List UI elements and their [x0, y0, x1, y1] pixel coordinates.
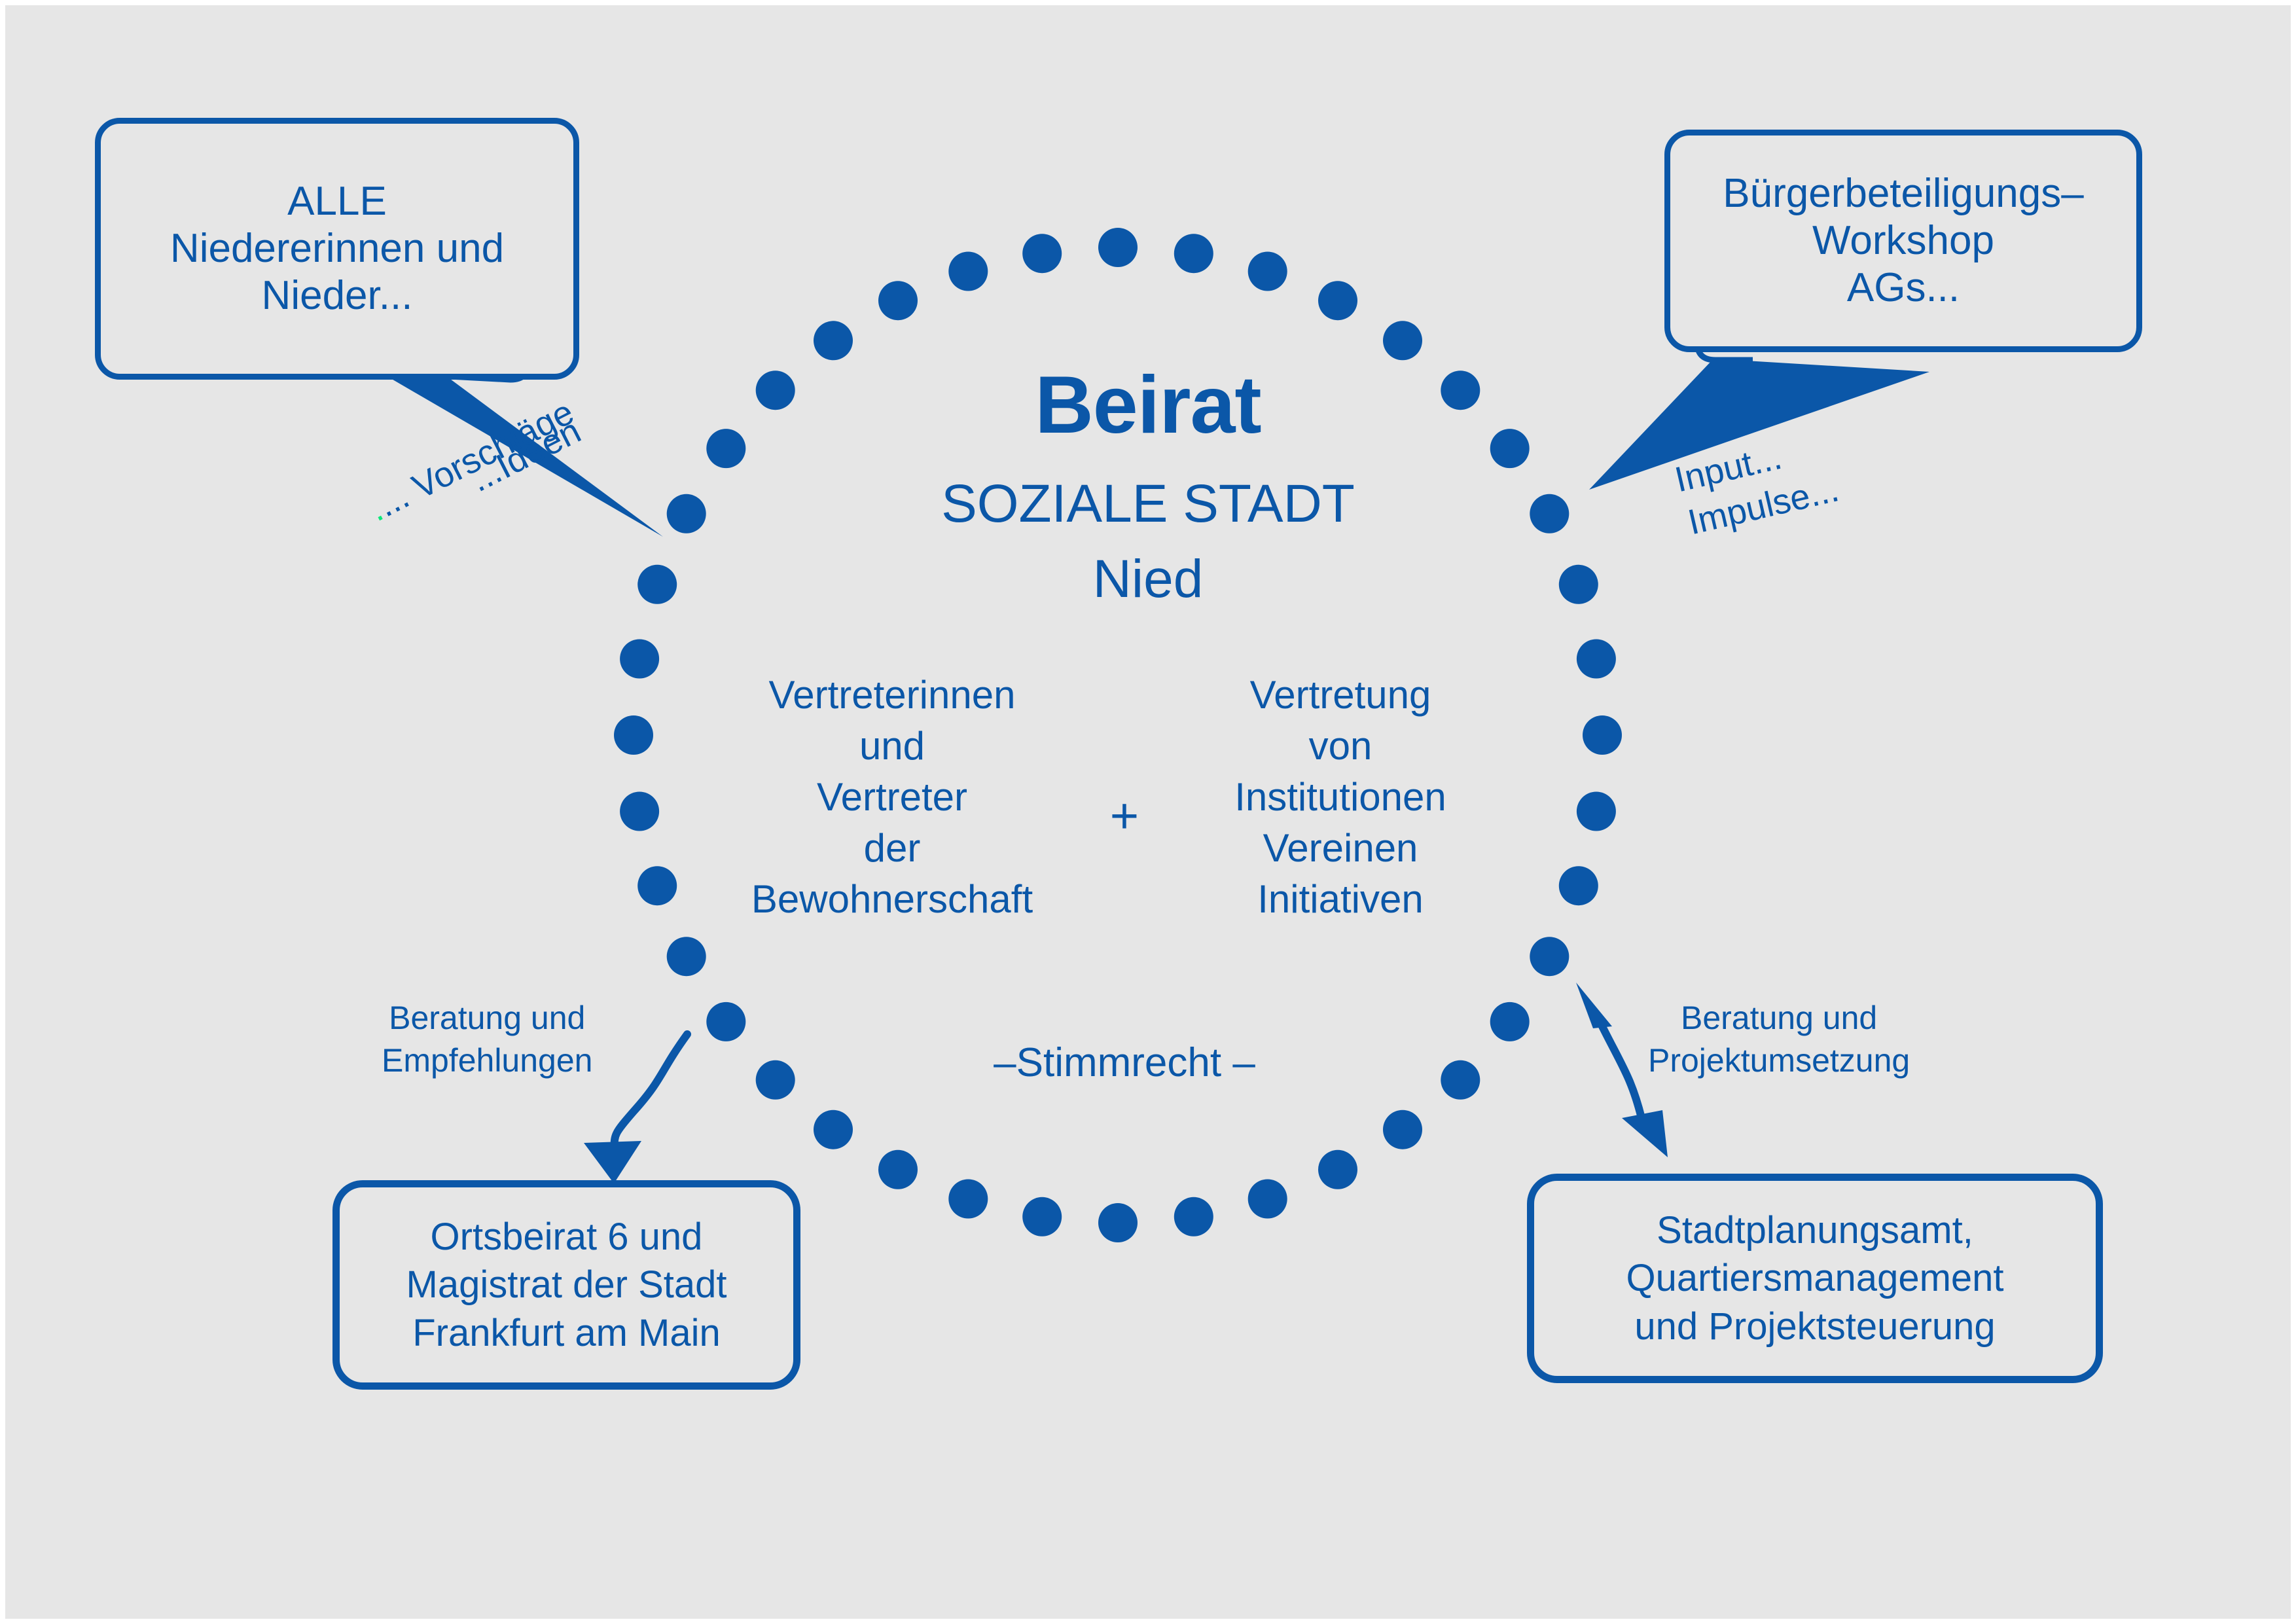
box-stadtplanung-line-3: und Projektsteuerung: [1634, 1303, 1995, 1350]
right-col-line-3: Institutionen: [1177, 772, 1504, 823]
box-ortsbeirat-line-3: Frankfurt am Main: [412, 1309, 721, 1357]
anno-beratung-l-line-1: Beratung und: [382, 997, 592, 1039]
arrow-beratung-projektumsetzung: [1602, 1026, 1641, 1118]
bubble-alle-line-1: ALLE: [287, 178, 387, 225]
right-col-line-4: Vereinen: [1177, 823, 1504, 874]
left-col-line-5: Bewohnerschaft: [709, 874, 1075, 925]
left-col-line-2: und: [709, 721, 1075, 772]
left-col-line-4: der: [709, 823, 1075, 874]
arrow-head-right-up: [1576, 983, 1612, 1028]
ring-dot: [1383, 1110, 1422, 1149]
stimmrecht-label: –Stimmrecht –: [922, 1039, 1327, 1086]
ring-dot: [756, 1060, 795, 1100]
arrow-head-left: [584, 1141, 641, 1183]
ring-dot: [1559, 866, 1598, 905]
center-subtitle-line1: SOZIALE STADT: [5, 473, 2291, 535]
diagram-canvas: ALLE Niedererinnen und Nieder... Bürgerb…: [0, 0, 2296, 1624]
center-right-column: Vertretung von Institutionen Vereinen In…: [1177, 670, 1504, 925]
annotation-beratung-projektumsetzung: Beratung und Projektumsetzung: [1648, 997, 1910, 1082]
ring-dot: [1577, 640, 1616, 679]
bubble-buerger-line-2: Workshop: [1812, 217, 1994, 264]
ring-dot: [1530, 937, 1569, 976]
ring-dot: [1490, 1002, 1530, 1041]
ring-dot: [1383, 321, 1422, 360]
ring-dot: [1174, 234, 1213, 273]
ring-dot: [878, 281, 918, 320]
ring-dot: [1441, 1060, 1480, 1100]
bubble-alle-line-3: Nieder...: [262, 272, 413, 319]
ring-dot: [1583, 715, 1622, 755]
arrow-beratung-empfehlungen: [614, 1034, 687, 1157]
ring-dot: [667, 937, 706, 976]
plus-sign: +: [1088, 787, 1160, 844]
box-ortsbeirat-line-2: Magistrat der Stadt: [406, 1261, 727, 1308]
annotation-beratung-empfehlungen: Beratung und Empfehlungen: [382, 997, 592, 1082]
bubble-alle-line-2: Niedererinnen und: [170, 225, 504, 272]
ring-dot: [1022, 1197, 1062, 1236]
left-col-line-3: Vertreter: [709, 772, 1075, 823]
box-ortsbeirat-line-1: Ortsbeirat 6 und: [431, 1213, 703, 1261]
anno-beratung-l-line-2: Empfehlungen: [382, 1039, 592, 1082]
ring-dot: [1248, 252, 1287, 291]
anno-beratung-r-line-2: Projektumsetzung: [1648, 1039, 1910, 1082]
box-stadtplanung-line-1: Stadtplanungsamt,: [1657, 1206, 1973, 1254]
ring-dot: [620, 792, 659, 831]
speech-bubble-alle[interactable]: ALLE Niedererinnen und Nieder...: [95, 118, 579, 380]
ring-dot: [637, 866, 677, 905]
ring-dot: [814, 321, 853, 360]
ring-dot: [1098, 228, 1138, 267]
right-col-line-1: Vertretung: [1177, 670, 1504, 721]
ring-dot: [1577, 792, 1616, 831]
ring-dot: [620, 640, 659, 679]
ring-dot: [706, 1002, 745, 1041]
bubble-buerger-line-1: Bürgerbeteiligungs–: [1723, 170, 2084, 217]
bubble-buerger-line-3: AGs...: [1847, 264, 1960, 312]
center-left-column: Vertreterinnen und Vertreter der Bewohne…: [709, 670, 1075, 925]
ring-dot: [1318, 1150, 1357, 1189]
ring-dot: [1098, 1203, 1138, 1242]
left-col-line-1: Vertreterinnen: [709, 670, 1075, 721]
arrow-head-right-down: [1622, 1110, 1668, 1157]
ring-dot: [1022, 234, 1062, 273]
box-stadtplanung-line-2: Quartiersmanagement: [1626, 1254, 2003, 1302]
right-col-line-2: von: [1177, 721, 1504, 772]
ring-dot: [1248, 1180, 1287, 1219]
box-stadtplanungsamt[interactable]: Stadtplanungsamt, Quartiersmanagement un…: [1527, 1174, 2103, 1383]
ring-dot: [948, 1180, 988, 1219]
ring-dot: [948, 252, 988, 291]
anno-beratung-r-line-1: Beratung und: [1648, 997, 1910, 1039]
speech-bubble-buergerbeteiligung[interactable]: Bürgerbeteiligungs– Workshop AGs...: [1664, 130, 2142, 352]
ring-dot: [814, 1110, 853, 1149]
ring-dot: [614, 715, 653, 755]
right-col-line-5: Initiativen: [1177, 874, 1504, 925]
center-subtitle-line2: Nied: [5, 549, 2291, 610]
ring-dot: [878, 1150, 918, 1189]
box-ortsbeirat[interactable]: Ortsbeirat 6 und Magistrat der Stadt Fra…: [332, 1180, 800, 1390]
ring-dot: [1174, 1197, 1213, 1236]
ring-dot: [1318, 281, 1357, 320]
